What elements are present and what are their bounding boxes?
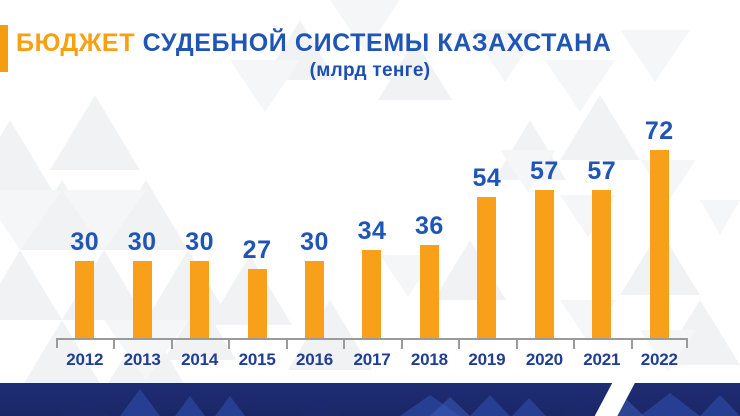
- bar-value-label: 30: [286, 229, 343, 255]
- bar-value-label: 36: [401, 213, 458, 239]
- x-axis-tick: [113, 340, 115, 349]
- x-axis-label: 2022: [631, 350, 688, 370]
- bar-rect: [305, 261, 324, 340]
- bar-rect: [362, 250, 381, 340]
- bar-value-label: 34: [343, 218, 400, 244]
- bar-group: 30: [113, 110, 170, 340]
- x-axis-label: 2016: [286, 350, 343, 370]
- footer-band: [0, 383, 740, 416]
- x-axis-tick: [228, 340, 230, 349]
- x-axis-tick: [631, 340, 633, 349]
- bar-group: 30: [56, 110, 113, 340]
- x-axis-label: 2012: [56, 350, 113, 370]
- x-axis-label: 2015: [228, 350, 285, 370]
- bar-rect: [477, 197, 496, 340]
- bar-group: 57: [516, 110, 573, 340]
- page-title: БЮДЖЕТ СУДЕБНОЙ СИСТЕМЫ КАЗАХСТАНА: [16, 28, 722, 58]
- x-axis-tick: [171, 340, 173, 349]
- bar-group: 30: [171, 110, 228, 340]
- bar-value-label: 57: [516, 158, 573, 184]
- x-axis-line: [56, 338, 688, 340]
- bar-group: 36: [401, 110, 458, 340]
- bar-group: 72: [631, 110, 688, 340]
- x-axis-tick: [343, 340, 345, 349]
- x-axis-right-cap: [686, 338, 688, 348]
- bar-value-label: 27: [228, 237, 285, 263]
- bar-value-label: 30: [171, 229, 228, 255]
- bar-rect: [190, 261, 209, 340]
- bar-series: 3030302730343654575772: [56, 110, 688, 340]
- bar-group: 30: [286, 110, 343, 340]
- x-axis-tick: [458, 340, 460, 349]
- x-axis-label: 2020: [516, 350, 573, 370]
- bar-group: 27: [228, 110, 285, 340]
- bar-rect: [133, 261, 152, 340]
- bar-value-label: 54: [458, 165, 515, 191]
- bar-rect: [650, 150, 669, 340]
- title-accent-word: БЮДЖЕТ: [16, 29, 135, 57]
- x-axis-label: 2017: [343, 350, 400, 370]
- x-axis-left-cap: [56, 338, 58, 348]
- x-axis-tick: [401, 340, 403, 349]
- page-subtitle: (млрд тенге): [0, 60, 740, 82]
- bar-rect: [592, 190, 611, 340]
- bar-group: 54: [458, 110, 515, 340]
- x-axis-label: 2018: [401, 350, 458, 370]
- x-axis-label: 2021: [573, 350, 630, 370]
- x-axis-labels: 2012201320142015201620172018201920202021…: [56, 350, 688, 370]
- bar-value-label: 72: [631, 118, 688, 144]
- bar-rect: [420, 245, 439, 340]
- title-main-words: СУДЕБНОЙ СИСТЕМЫ КАЗАХСТАНА: [143, 29, 612, 57]
- x-axis-tick: [516, 340, 518, 349]
- bar-value-label: 57: [573, 158, 630, 184]
- x-axis-label: 2014: [171, 350, 228, 370]
- bar-group: 57: [573, 110, 630, 340]
- bar-rect: [248, 269, 267, 340]
- bar-value-label: 30: [56, 229, 113, 255]
- bar-rect: [535, 190, 554, 340]
- bar-group: 34: [343, 110, 400, 340]
- bar-rect: [75, 261, 94, 340]
- infographic-slide: БЮДЖЕТ СУДЕБНОЙ СИСТЕМЫ КАЗАХСТАНА (млрд…: [0, 0, 740, 416]
- x-axis-tick: [286, 340, 288, 349]
- bar-value-label: 30: [113, 229, 170, 255]
- x-axis-label: 2019: [458, 350, 515, 370]
- x-axis-label: 2013: [113, 350, 170, 370]
- x-axis-tick: [573, 340, 575, 349]
